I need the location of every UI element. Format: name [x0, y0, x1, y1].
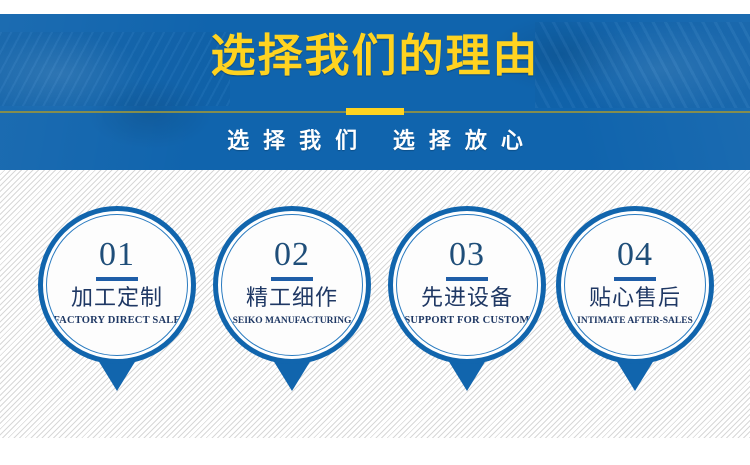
badge-inner-circle: 01 加工定制 FACTORY DIRECT SALE — [46, 214, 188, 356]
badge-number: 03 — [449, 238, 485, 272]
badge-title-en: FACTORY DIRECT SALE — [53, 314, 180, 328]
badge-title-en: SEIKO MANUFACTURING — [233, 314, 352, 328]
badge-number-underline — [614, 277, 656, 281]
banner-divider-accent — [346, 108, 404, 115]
badge-title-en: SUPPORT FOR CUSTOM — [404, 314, 529, 328]
badge-inner-circle: 03 先进设备 SUPPORT FOR CUSTOM — [396, 214, 538, 356]
badge-title-cn: 先进设备 — [421, 286, 513, 312]
feature-badge-01[interactable]: 01 加工定制 FACTORY DIRECT SALE — [38, 206, 196, 364]
badge-inner-circle: 02 精工细作 SEIKO MANUFACTURING — [221, 214, 363, 356]
feature-badge-04[interactable]: 04 贴心售后 INTIMATE AFTER-SALES — [556, 206, 714, 364]
badge-number-underline — [96, 277, 138, 281]
badge-number-underline — [271, 277, 313, 281]
header-banner: 选择我们的理由 选择我们 选择放心 — [0, 14, 750, 170]
badge-number: 04 — [617, 238, 653, 272]
badge-title-cn: 精工细作 — [246, 286, 338, 312]
badge-title-cn: 加工定制 — [71, 286, 163, 312]
badge-title-cn: 贴心售后 — [589, 286, 681, 312]
badge-title-en: INTIMATE AFTER-SALES — [577, 314, 693, 328]
banner-title: 选择我们的理由 — [0, 28, 750, 84]
badge-inner-circle: 04 贴心售后 INTIMATE AFTER-SALES — [564, 214, 706, 356]
badge-number: 02 — [274, 238, 310, 272]
banner-subtitle: 选择我们 选择放心 — [0, 120, 750, 164]
feature-badge-02[interactable]: 02 精工细作 SEIKO MANUFACTURING — [213, 206, 371, 364]
badge-number: 01 — [99, 238, 135, 272]
badge-number-underline — [446, 277, 488, 281]
feature-badge-list: 01 加工定制 FACTORY DIRECT SALE 02 精工细作 SEIK… — [0, 170, 750, 438]
feature-badge-03[interactable]: 03 先进设备 SUPPORT FOR CUSTOM — [388, 206, 546, 364]
promo-banner-page: 选择我们的理由 选择我们 选择放心 01 加工定制 FACTORY DIRECT… — [0, 0, 750, 465]
